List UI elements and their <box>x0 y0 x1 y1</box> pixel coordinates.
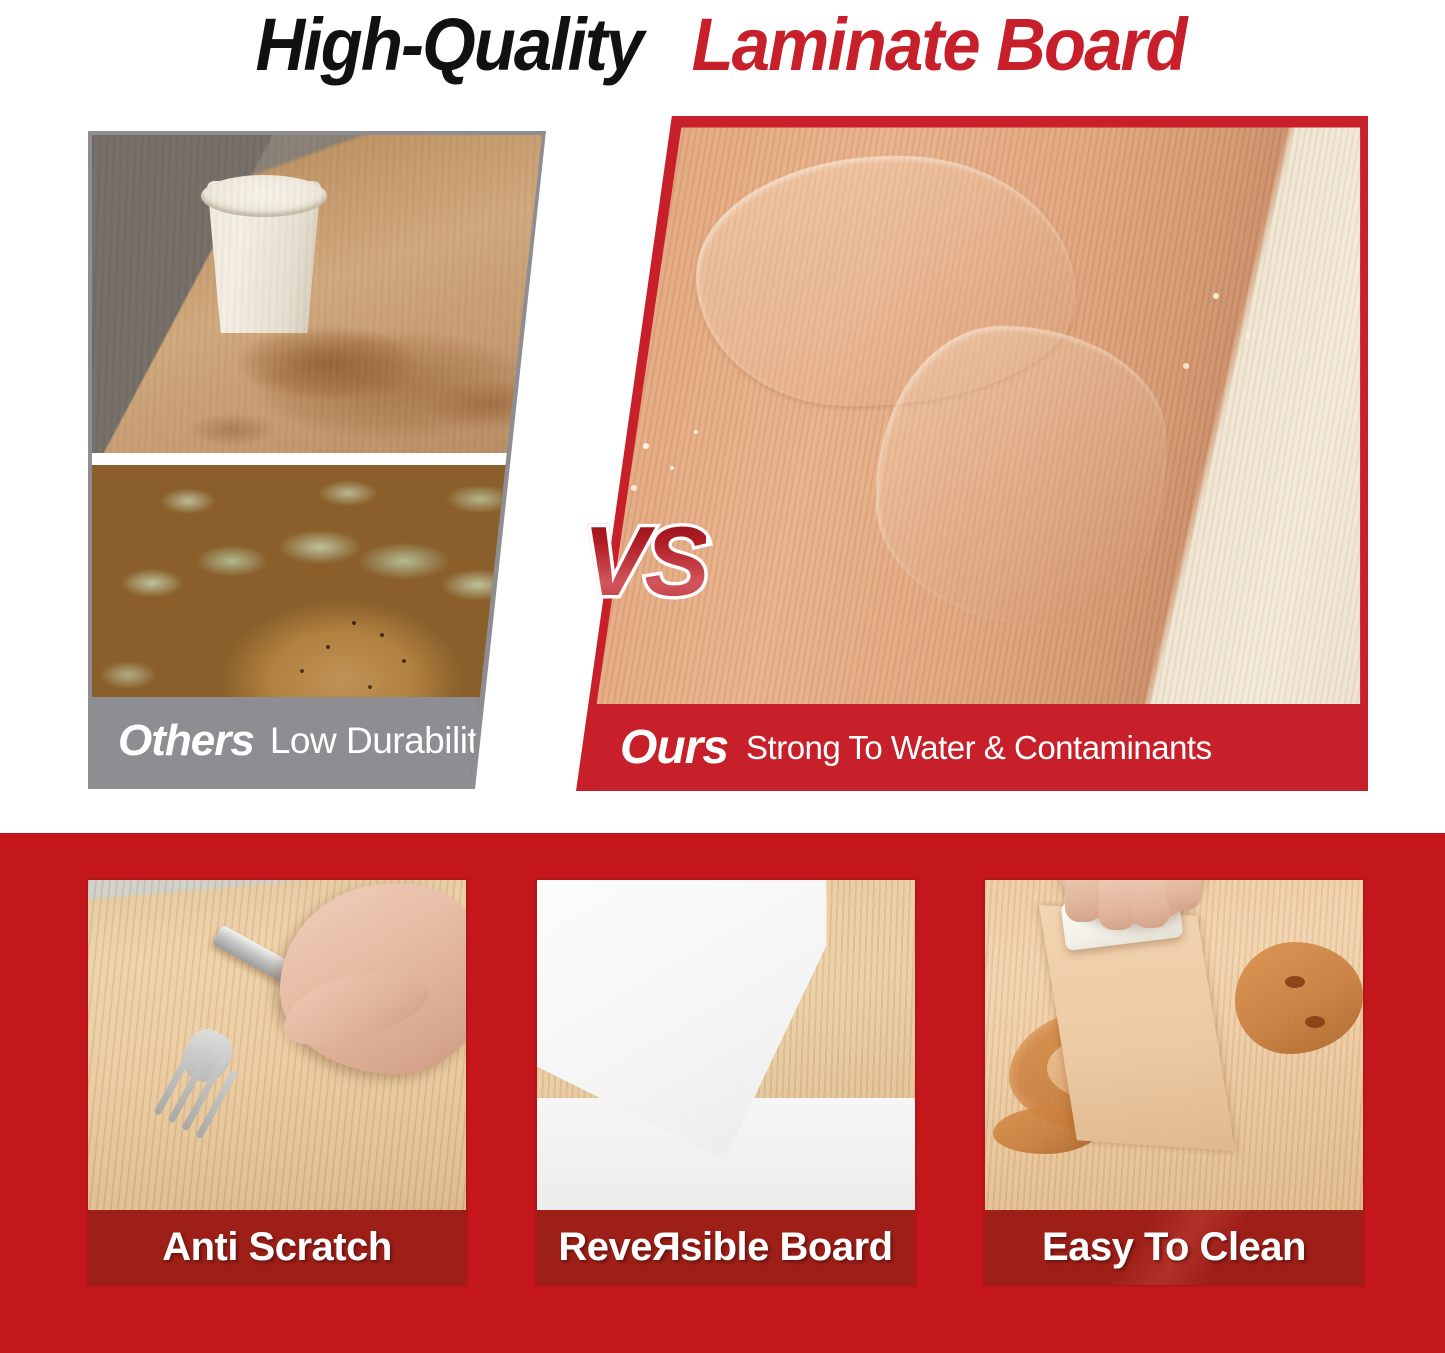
page-title: High-Quality Laminate Board <box>0 0 1445 90</box>
feature-label-reversible-board: ReveЯsible Board <box>537 1210 915 1285</box>
features-section: Anti Scratch ReveЯsible Board <box>0 833 1445 1353</box>
feature-label-anti-scratch: Anti Scratch <box>88 1210 466 1285</box>
ours-card-inner: Ours Strong To Water & Contaminants <box>576 116 1368 791</box>
photo-wiping-sauce-off-laminate <box>985 880 1363 1210</box>
feature-label-easy-to-clean: Easy To Clean <box>985 1210 1363 1285</box>
feature-card-anti-scratch: Anti Scratch <box>88 880 466 1285</box>
others-caption-bar: Others Low Durability <box>92 697 542 785</box>
ours-headline: Ours <box>620 720 728 775</box>
photo-divider <box>92 453 542 465</box>
photo-white-and-wood-reversible-panels <box>537 880 915 1210</box>
comparison-section: Others Low Durability Ours Strong To Wat… <box>0 100 1445 800</box>
others-card-inner: Others Low Durability <box>92 135 542 785</box>
features-row: Anti Scratch ReveЯsible Board <box>88 880 1363 1285</box>
paper-cup-rim <box>201 175 327 217</box>
fork-tines <box>153 1037 252 1144</box>
feature-card-easy-to-clean: Easy To Clean <box>985 880 1363 1285</box>
others-headline: Others <box>118 716 254 766</box>
sauce-chunk-c <box>1305 1016 1325 1028</box>
ours-card: Ours Strong To Water & Contaminants <box>576 116 1368 791</box>
paper-cup <box>207 181 321 333</box>
ours-caption-bar: Ours Strong To Water & Contaminants <box>576 704 1368 791</box>
others-subtext: Low Durability <box>270 720 495 762</box>
sauce-chunk-b <box>1285 976 1305 988</box>
page-title-red-part: Laminate Board <box>691 8 1185 82</box>
photo-fork-scratching-laminate-surface <box>88 880 466 1210</box>
feature-card-reversible-board: ReveЯsible Board <box>537 880 915 1285</box>
photo-spilled-coffee-on-particle-board <box>92 135 542 453</box>
others-card: Others Low Durability <box>88 131 546 789</box>
vs-badge-outline: VS <box>583 512 706 610</box>
sauce-spill-small <box>1235 942 1363 1054</box>
ours-subtext: Strong To Water & Contaminants <box>746 729 1212 767</box>
page-title-black-part: High-Quality <box>255 8 642 82</box>
